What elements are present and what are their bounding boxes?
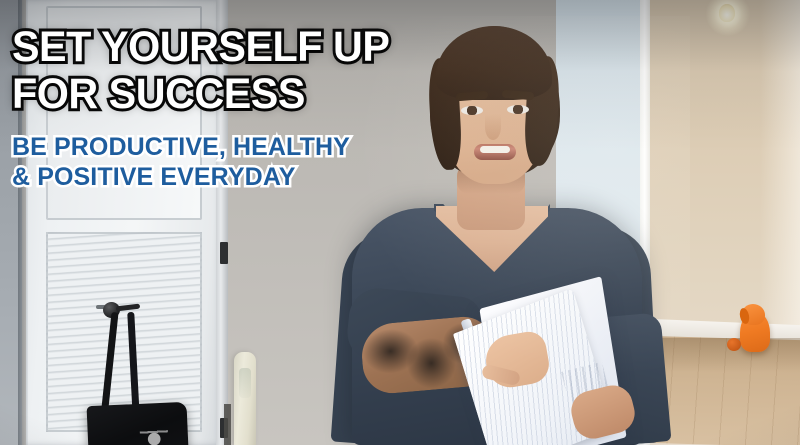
cream-rolled-mat	[234, 352, 256, 445]
tote-bag-print	[139, 417, 169, 445]
nose	[485, 114, 501, 140]
subheadline-line-2: & POSITIVE EVERYDAY	[12, 162, 482, 192]
dark-floor-object	[224, 404, 231, 445]
subheadline-line-1: BE PRODUCTIVE, HEALTHY	[12, 132, 482, 162]
door-hinge-top	[220, 242, 228, 264]
cream-mat-marking	[239, 368, 251, 398]
video-thumbnail: SET YOURSELF UP FOR SUCCESS BE PRODUCTIV…	[0, 0, 800, 445]
ceiling-light-bulb-icon	[719, 4, 735, 22]
headline-line-1: SET YOURSELF UP	[12, 24, 463, 71]
headline-line-2: FOR SUCCESS	[12, 71, 463, 118]
black-tote-bag	[87, 402, 190, 445]
thumbnail-text-overlay: SET YOURSELF UP FOR SUCCESS BE PRODUCTIV…	[12, 24, 482, 192]
teeth	[480, 146, 510, 153]
eye-right	[507, 105, 529, 114]
subheadline-group: BE PRODUCTIVE, HEALTHY & POSITIVE EVERYD…	[12, 132, 482, 192]
plush-toy-ball	[727, 338, 741, 351]
